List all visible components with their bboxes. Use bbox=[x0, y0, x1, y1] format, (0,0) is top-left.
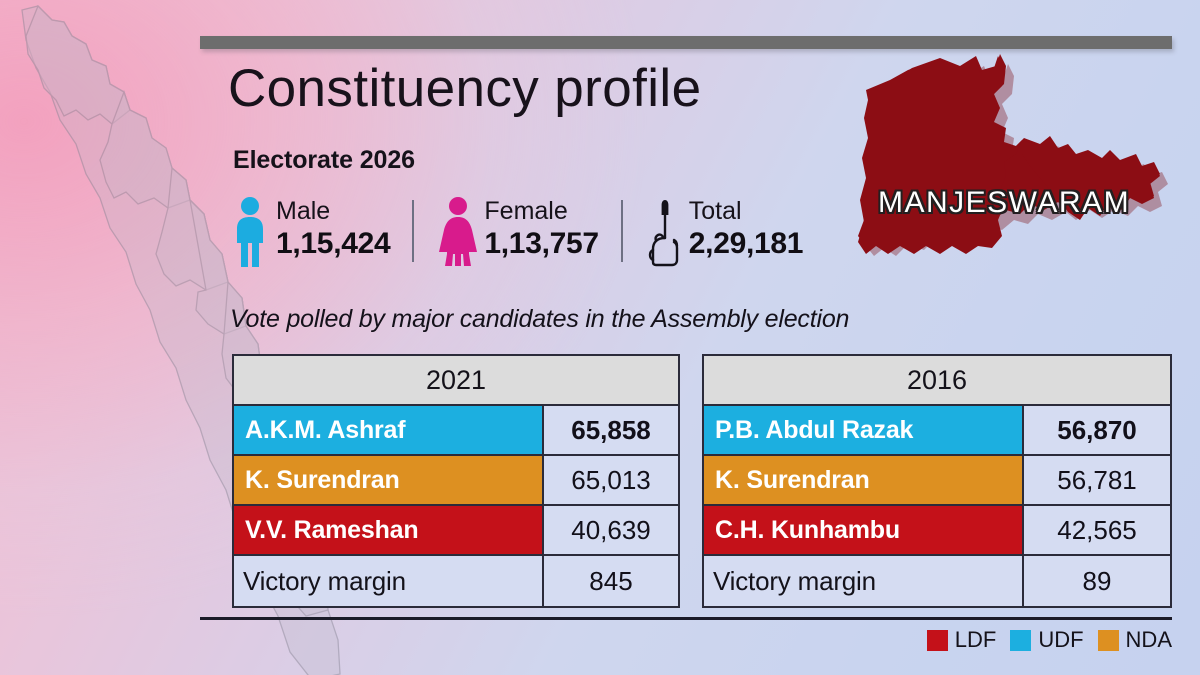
page-title: Constituency profile bbox=[228, 58, 701, 119]
inked-finger-icon bbox=[645, 196, 685, 268]
victory-margin-label: Victory margin bbox=[234, 556, 542, 606]
stat-divider bbox=[412, 200, 414, 262]
candidate-votes: 40,639 bbox=[542, 506, 678, 554]
legend-swatch-udf bbox=[1010, 630, 1031, 651]
legend-item-ldf: LDF bbox=[927, 627, 997, 653]
male-figure-icon bbox=[228, 196, 272, 268]
candidate-votes: 56,781 bbox=[1022, 456, 1170, 504]
front-legend: LDF UDF NDA bbox=[927, 627, 1172, 653]
stat-male: Male 1,15,424 bbox=[228, 196, 390, 268]
candidate-name: V.V. Rameshan bbox=[234, 506, 542, 554]
candidate-votes: 56,870 bbox=[1022, 406, 1170, 454]
table-year-header: 2021 bbox=[234, 356, 678, 406]
table-row: V.V. Rameshan 40,639 bbox=[234, 506, 678, 556]
victory-margin-row: Victory margin 845 bbox=[234, 556, 678, 606]
legend-swatch-ldf bbox=[927, 630, 948, 651]
constituency-map-label: MANJESWARAM bbox=[878, 186, 1130, 220]
table-row: A.K.M. Ashraf 65,858 bbox=[234, 406, 678, 456]
stat-divider bbox=[621, 200, 623, 262]
legend-label-ldf: LDF bbox=[955, 627, 997, 653]
stat-male-value: 1,15,424 bbox=[276, 226, 390, 262]
candidate-votes: 42,565 bbox=[1022, 506, 1170, 554]
constituency-map bbox=[848, 42, 1196, 310]
victory-margin-row: Victory margin 89 bbox=[704, 556, 1170, 606]
legend-item-nda: NDA bbox=[1098, 627, 1172, 653]
table-row: K. Surendran 56,781 bbox=[704, 456, 1170, 506]
votes-table-2021: 2021 A.K.M. Ashraf 65,858 K. Surendran 6… bbox=[232, 354, 680, 608]
stat-female-label: Female bbox=[484, 196, 598, 226]
table-row: P.B. Abdul Razak 56,870 bbox=[704, 406, 1170, 456]
bottom-rule bbox=[200, 617, 1172, 620]
legend-item-udf: UDF bbox=[1010, 627, 1083, 653]
candidate-name: K. Surendran bbox=[704, 456, 1022, 504]
stat-total-label: Total bbox=[689, 196, 803, 226]
stat-total-value: 2,29,181 bbox=[689, 226, 803, 262]
stat-female-value: 1,13,757 bbox=[484, 226, 598, 262]
legend-label-udf: UDF bbox=[1038, 627, 1083, 653]
electorate-stats: Male 1,15,424 Female 1,13,757 bbox=[228, 196, 803, 268]
electorate-heading: Electorate 2026 bbox=[233, 146, 415, 175]
table-year-header: 2016 bbox=[704, 356, 1170, 406]
candidate-name: P.B. Abdul Razak bbox=[704, 406, 1022, 454]
table-row: K. Surendran 65,013 bbox=[234, 456, 678, 506]
stat-male-label: Male bbox=[276, 196, 390, 226]
legend-swatch-nda bbox=[1098, 630, 1119, 651]
candidate-name: C.H. Kunhambu bbox=[704, 506, 1022, 554]
stat-total: Total 2,29,181 bbox=[645, 196, 803, 268]
legend-label-nda: NDA bbox=[1126, 627, 1172, 653]
female-figure-icon bbox=[436, 196, 480, 268]
candidate-name: K. Surendran bbox=[234, 456, 542, 504]
victory-margin-label: Victory margin bbox=[704, 556, 1022, 606]
victory-margin-value: 89 bbox=[1022, 556, 1170, 606]
table-row: C.H. Kunhambu 42,565 bbox=[704, 506, 1170, 556]
candidate-name: A.K.M. Ashraf bbox=[234, 406, 542, 454]
victory-margin-value: 845 bbox=[542, 556, 678, 606]
stat-female: Female 1,13,757 bbox=[436, 196, 598, 268]
candidate-votes: 65,013 bbox=[542, 456, 678, 504]
votes-table-2016: 2016 P.B. Abdul Razak 56,870 K. Surendra… bbox=[702, 354, 1172, 608]
candidate-votes: 65,858 bbox=[542, 406, 678, 454]
section-subtitle: Vote polled by major candidates in the A… bbox=[230, 305, 849, 334]
